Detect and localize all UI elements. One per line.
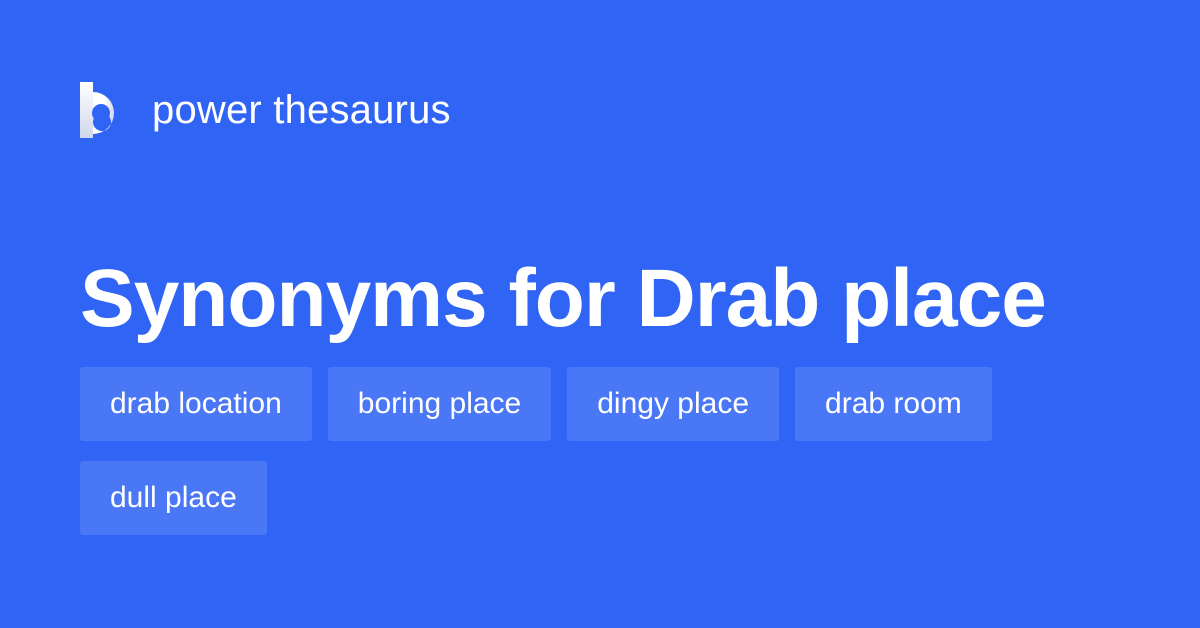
synonym-tag[interactable]: drab location [80,367,312,441]
synonym-tag[interactable]: drab room [795,367,992,441]
synonym-tag[interactable]: dull place [80,461,267,535]
brand-logo[interactable]: power thesaurus [80,82,451,138]
power-thesaurus-b-logo-icon [80,82,128,138]
synonyms-share-card: power thesaurus Synonyms for Drab place … [0,0,1200,628]
brand-name: power thesaurus [152,87,451,133]
synonym-tag-list: drab location boring place dingy place d… [80,367,1140,535]
synonym-tag[interactable]: dingy place [567,367,779,441]
synonym-tag[interactable]: boring place [328,367,551,441]
page-title: Synonyms for Drab place [80,253,1140,345]
